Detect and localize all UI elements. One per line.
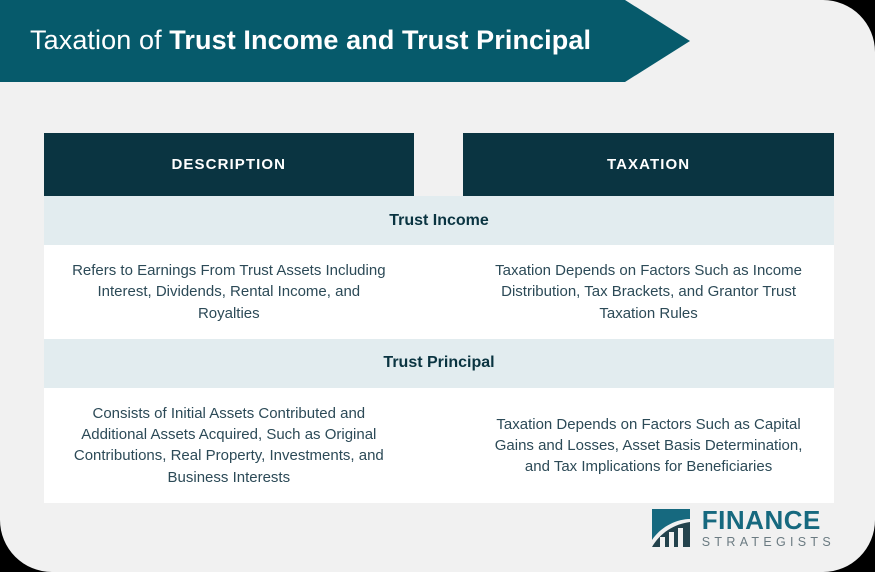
column-header-taxation: TAXATION (463, 133, 834, 196)
page-title-bold: Trust Income and Trust Principal (169, 25, 591, 55)
finance-strategists-chart-mark-icon (652, 507, 692, 547)
column-header-description: DESCRIPTION (44, 133, 414, 196)
comparison-table: DESCRIPTION TAXATION Trust Income Refers… (44, 133, 834, 503)
page-title: Taxation of Trust Income and Trust Princ… (0, 26, 591, 56)
table-row-trust-principal: Consists of Initial Assets Contributed a… (44, 388, 834, 503)
cell-taxation-trust-principal: Taxation Depends on Factors Such as Capi… (463, 388, 834, 503)
brand-logo-text: FINANCE STRATEGISTS (702, 507, 835, 549)
brand-name-primary: FINANCE (702, 507, 835, 533)
section-header-row-trust-principal: Trust Principal (44, 339, 834, 388)
column-divider (414, 133, 464, 196)
section-header-row-trust-income: Trust Income (44, 196, 834, 245)
table-row-trust-income: Refers to Earnings From Trust Assets Inc… (44, 245, 834, 339)
cell-taxation-trust-income: Taxation Depends on Factors Such as Inco… (463, 245, 834, 339)
section-label-trust-income: Trust Income (44, 196, 834, 245)
section-label-trust-principal: Trust Principal (44, 339, 834, 388)
header-banner: Taxation of Trust Income and Trust Princ… (0, 0, 690, 82)
brand-name-secondary: STRATEGISTS (702, 536, 835, 549)
cell-description-trust-principal: Consists of Initial Assets Contributed a… (44, 388, 414, 503)
brand-logo: FINANCE STRATEGISTS (652, 507, 835, 549)
table-header-row: DESCRIPTION TAXATION (44, 133, 834, 196)
column-divider (414, 245, 464, 339)
cell-description-trust-income: Refers to Earnings From Trust Assets Inc… (44, 245, 414, 339)
page-title-plain: Taxation of (30, 25, 169, 55)
column-divider (414, 388, 464, 503)
infographic-card: Taxation of Trust Income and Trust Princ… (0, 0, 875, 572)
